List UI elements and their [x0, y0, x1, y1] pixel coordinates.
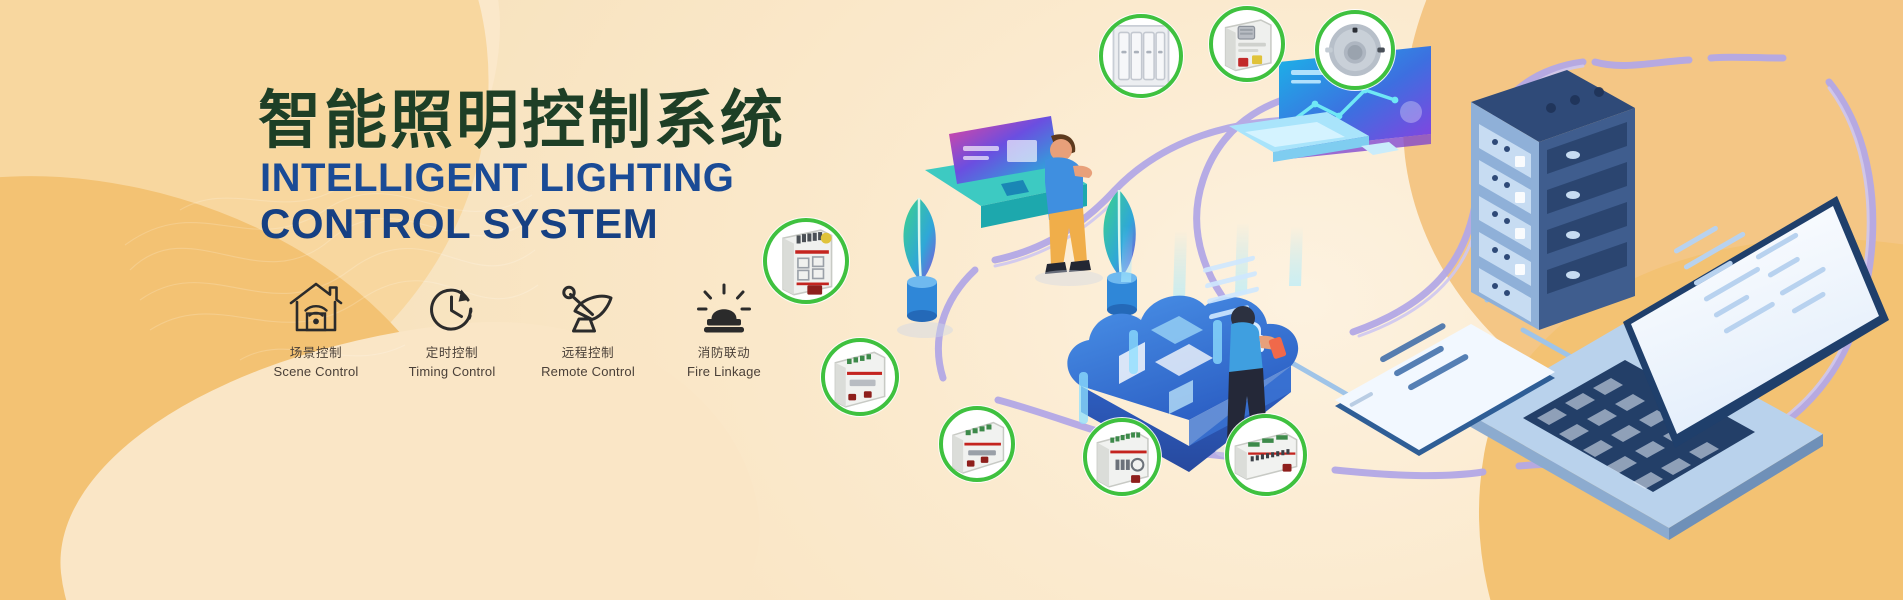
feature-item-fire-linkage[interactable]: 消防联动 Fire Linkage [656, 278, 792, 381]
clock-timer-icon [422, 278, 482, 338]
device-badge-din-rail-dimmer[interactable] [1083, 418, 1161, 496]
device-badge-din-rail-power-supply[interactable] [763, 218, 849, 304]
feature-label-zh: 消防联动 [698, 345, 750, 362]
page-title-english-line2: CONTROL SYSTEM [260, 203, 658, 245]
feature-label-en: Fire Linkage [687, 362, 761, 382]
feature-item-remote-control[interactable]: 远程控制 Remote Control [520, 278, 656, 381]
device-badge-din-rail-gateway[interactable] [1209, 6, 1285, 82]
device-badge-din-rail-relay-module[interactable] [939, 406, 1015, 482]
feature-label-zh: 场景控制 [290, 345, 342, 362]
feature-label-zh: 定时控制 [426, 345, 478, 362]
device-badge-din-rail-switch-actuator[interactable] [1225, 414, 1307, 496]
feature-item-timing-control[interactable]: 定时控制 Timing Control [384, 278, 520, 381]
illustration-smart-lighting-network [883, 0, 1903, 600]
feature-label-en: Remote Control [541, 362, 635, 382]
device-badge-wall-switch-panel[interactable] [1099, 14, 1183, 98]
feature-label-en: Timing Control [409, 362, 496, 382]
page-title-english-line1: INTELLIGENT LIGHTING [260, 158, 734, 198]
satellite-dish-icon [558, 278, 618, 338]
feature-item-scene-control[interactable]: 场景控制 Scene Control [248, 278, 384, 381]
smart-home-wifi-icon [286, 278, 346, 338]
alarm-siren-icon [694, 278, 754, 338]
feature-label-zh: 远程控制 [562, 345, 614, 362]
banner-root: 智能照明控制系统 INTELLIGENT LIGHTING CONTROL SY… [0, 0, 1903, 600]
page-title-chinese: 智能照明控制系统 [258, 88, 786, 155]
device-badge-ceiling-motion-sensor[interactable] [1315, 10, 1395, 90]
device-badge-din-rail-actuator[interactable] [821, 338, 899, 416]
feature-label-en: Scene Control [274, 362, 359, 382]
feature-list: 场景控制 Scene Control 定时控制 Timing Control [248, 278, 792, 381]
server-rack [1471, 70, 1635, 330]
